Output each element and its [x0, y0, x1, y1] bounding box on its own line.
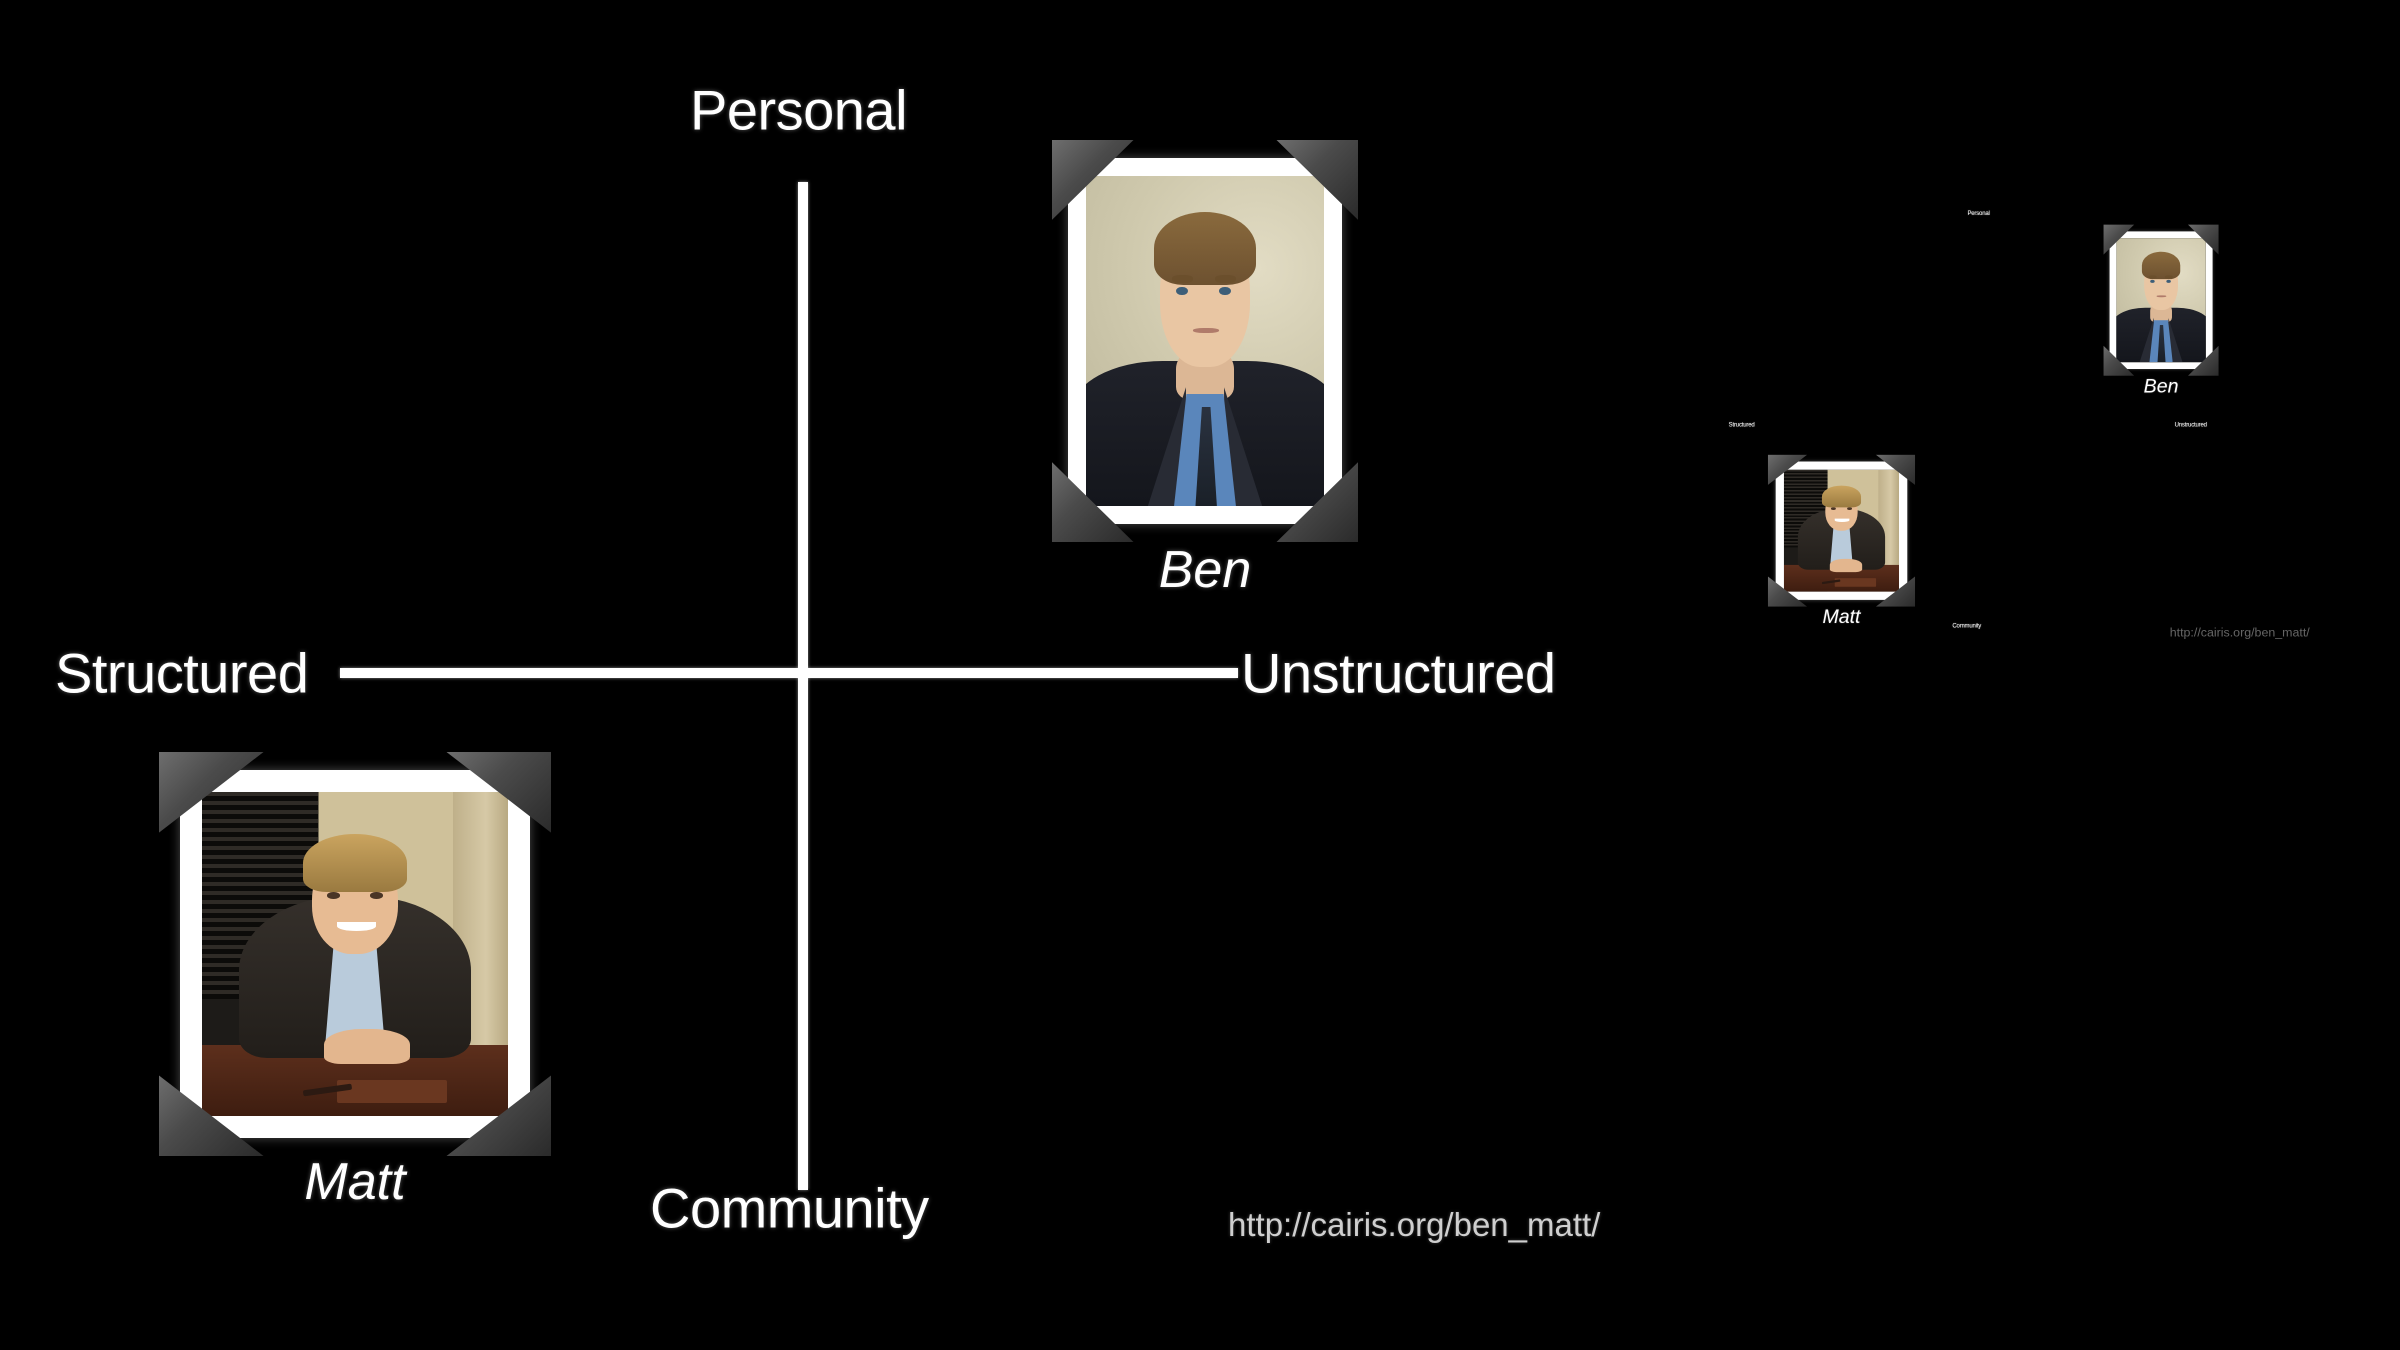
- axis-label-structured: Structured: [55, 641, 308, 706]
- persona-card-ben[interactable]: Ben: [1068, 158, 1342, 524]
- photo-frame-matt: [180, 770, 530, 1138]
- thumb-persona-card-matt[interactable]: Matt: [1776, 462, 1908, 600]
- thumb-axis-label-personal: Personal: [1967, 210, 1989, 217]
- thumb-photo-ben: [2116, 238, 2205, 362]
- persona-card-matt[interactable]: Matt: [180, 770, 530, 1138]
- thumb-photo-frame-ben: [2110, 231, 2213, 369]
- photo-ben: [1086, 176, 1324, 506]
- thumb-axis-label-community: Community: [1952, 623, 1981, 630]
- axis-label-unstructured: Unstructured: [1241, 641, 1556, 706]
- persona-name-ben: Ben: [1068, 540, 1342, 600]
- persona-name-matt: Matt: [180, 1152, 530, 1212]
- slide-thumbnail-scaler: Personal Community Structured Unstructur…: [1708, 172, 2328, 680]
- axis-label-personal: Personal: [690, 78, 907, 143]
- horizontal-axis-line: [340, 668, 1238, 678]
- thumb-photo-frame-matt: [1776, 462, 1908, 600]
- thumb-source-url-caption: http://cairis.org/ben_matt/: [2170, 625, 2310, 639]
- thumb-axis-label-structured: Structured: [1729, 422, 1755, 429]
- main-slide-canvas[interactable]: Personal Community Structured Unstructur…: [0, 0, 1650, 1350]
- axis-label-community: Community: [650, 1176, 929, 1241]
- source-url-caption[interactable]: http://cairis.org/ben_matt/: [1228, 1206, 1600, 1244]
- photo-matt: [202, 792, 508, 1116]
- photo-frame-ben: [1068, 158, 1342, 524]
- vertical-axis-line: [798, 182, 808, 1190]
- thumb-persona-name-ben: Ben: [2110, 375, 2213, 398]
- thumb-persona-card-ben[interactable]: Ben: [2110, 231, 2213, 369]
- slide-thumbnail-panel[interactable]: Personal Community Structured Unstructur…: [1650, 0, 2400, 1350]
- thumb-photo-matt: [1784, 470, 1899, 592]
- thumb-persona-name-matt: Matt: [1776, 605, 1908, 628]
- thumb-axis-label-unstructured: Unstructured: [2175, 422, 2207, 429]
